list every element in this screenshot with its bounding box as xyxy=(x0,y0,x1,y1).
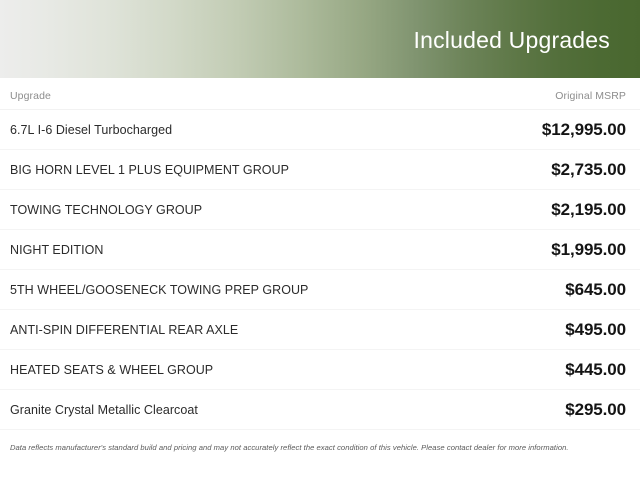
upgrade-price: $445.00 xyxy=(565,360,626,380)
table-row: ANTI-SPIN DIFFERENTIAL REAR AXLE $495.00 xyxy=(0,310,640,350)
table-row: BIG HORN LEVEL 1 PLUS EQUIPMENT GROUP $2… xyxy=(0,150,640,190)
disclaimer-text: Data reflects manufacturer's standard bu… xyxy=(10,443,630,453)
upgrade-price: $12,995.00 xyxy=(542,120,626,140)
upgrade-name: NIGHT EDITION xyxy=(10,243,551,257)
upgrade-name: 5TH WHEEL/GOOSENECK TOWING PREP GROUP xyxy=(10,283,565,297)
upgrade-price: $295.00 xyxy=(565,400,626,420)
upgrade-name: Granite Crystal Metallic Clearcoat xyxy=(10,403,565,417)
table-row: 5TH WHEEL/GOOSENECK TOWING PREP GROUP $6… xyxy=(0,270,640,310)
table-row: HEATED SEATS & WHEEL GROUP $445.00 xyxy=(0,350,640,390)
table-row: Granite Crystal Metallic Clearcoat $295.… xyxy=(0,390,640,430)
upgrade-name: BIG HORN LEVEL 1 PLUS EQUIPMENT GROUP xyxy=(10,163,551,177)
upgrade-price: $2,735.00 xyxy=(551,160,626,180)
upgrade-price: $1,995.00 xyxy=(551,240,626,260)
upgrade-name: 6.7L I-6 Diesel Turbocharged xyxy=(10,123,542,137)
upgrade-price: $2,195.00 xyxy=(551,200,626,220)
upgrade-name: TOWING TECHNOLOGY GROUP xyxy=(10,203,551,217)
upgrade-price: $645.00 xyxy=(565,280,626,300)
page-header-band: Included Upgrades xyxy=(0,0,640,78)
table-column-header-row: Upgrade Original MSRP xyxy=(0,78,640,110)
column-header-upgrade: Upgrade xyxy=(10,90,51,102)
table-row: TOWING TECHNOLOGY GROUP $2,195.00 xyxy=(0,190,640,230)
upgrades-table: Upgrade Original MSRP 6.7L I-6 Diesel Tu… xyxy=(0,78,640,430)
upgrade-name: HEATED SEATS & WHEEL GROUP xyxy=(10,363,565,377)
upgrade-name: ANTI-SPIN DIFFERENTIAL REAR AXLE xyxy=(10,323,565,337)
page-title: Included Upgrades xyxy=(414,27,610,53)
table-row: 6.7L I-6 Diesel Turbocharged $12,995.00 xyxy=(0,110,640,150)
table-row: NIGHT EDITION $1,995.00 xyxy=(0,230,640,270)
upgrade-price: $495.00 xyxy=(565,320,626,340)
column-header-original-msrp: Original MSRP xyxy=(555,90,626,102)
